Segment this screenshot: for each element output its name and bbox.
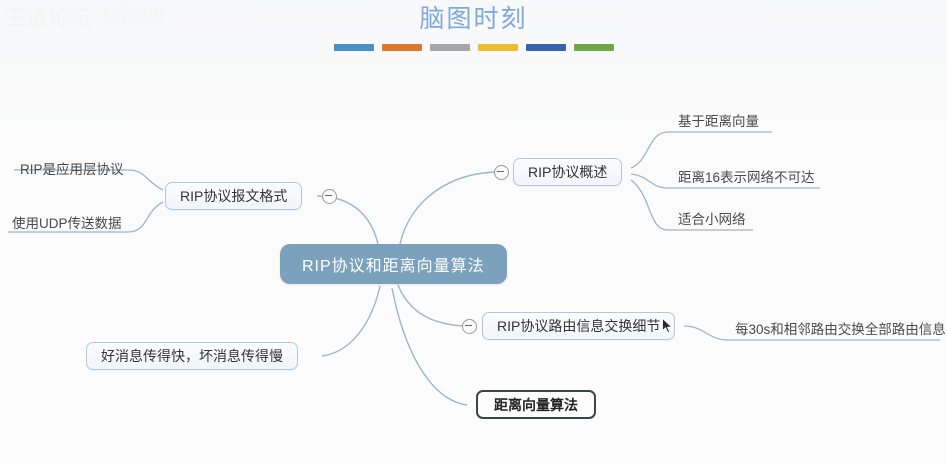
leaf-node-distance-16-unreachable-label: 距离16表示网络不可达 xyxy=(678,166,815,186)
color-bar-row xyxy=(0,44,947,51)
branch-node-rip-message-format-label: RIP协议报文格式 xyxy=(180,186,287,206)
leaf-node-distance-vector-based[interactable]: 基于距离向量 xyxy=(674,110,763,130)
branch-node-rip-overview[interactable]: RIP协议概述 xyxy=(513,158,622,186)
branch-node-rip-overview-label: RIP协议概述 xyxy=(528,162,607,182)
mindmap-canvas: 王道论坛 bilibili 脑图时刻 xyxy=(0,0,947,464)
color-bar-blue xyxy=(334,44,374,51)
color-bar-yellow xyxy=(478,44,518,51)
branch-node-rip-exchange-detail-label: RIP协议路由信息交换细节 xyxy=(497,316,660,336)
leaf-node-small-network[interactable]: 适合小网络 xyxy=(674,208,750,228)
title-block: 脑图时刻 xyxy=(0,4,947,51)
root-node[interactable]: RIP协议和距离向量算法 xyxy=(280,244,507,284)
connector-lines xyxy=(0,0,947,464)
mouse-cursor-icon xyxy=(662,318,674,334)
page-title: 脑图时刻 xyxy=(0,4,947,34)
leaf-node-rip-application-layer[interactable]: RIP是应用层协议 xyxy=(16,158,128,178)
collapse-toggle-rip-overview[interactable] xyxy=(494,165,509,180)
color-bar-dark-blue xyxy=(526,44,566,51)
leaf-node-30s-exchange[interactable]: 每30s和相邻路由交换全部路由信息 xyxy=(731,318,947,338)
branch-node-rip-message-format[interactable]: RIP协议报文格式 xyxy=(165,182,302,210)
leaf-node-distance-vector-based-label: 基于距离向量 xyxy=(678,110,759,130)
color-bar-gray xyxy=(430,44,470,51)
color-bar-orange xyxy=(382,44,422,51)
collapse-toggle-rip-exchange-detail[interactable] xyxy=(462,319,477,334)
leaf-node-udp-transport-label: 使用UDP传送数据 xyxy=(12,212,122,232)
leaf-node-30s-exchange-label: 每30s和相邻路由交换全部路由信息 xyxy=(735,318,946,338)
color-bar-green xyxy=(574,44,614,51)
branch-node-rip-exchange-detail[interactable]: RIP协议路由信息交换细节 xyxy=(482,312,675,340)
branch-node-good-bad-news-label: 好消息传得快，坏消息传得慢 xyxy=(101,346,283,366)
leaf-node-small-network-label: 适合小网络 xyxy=(678,208,746,228)
branch-node-distance-vector-algorithm[interactable]: 距离向量算法 xyxy=(476,390,596,419)
collapse-toggle-rip-message-format[interactable] xyxy=(322,189,337,204)
branch-node-good-bad-news[interactable]: 好消息传得快，坏消息传得慢 xyxy=(86,342,298,370)
leaf-node-udp-transport[interactable]: 使用UDP传送数据 xyxy=(8,212,126,232)
leaf-node-distance-16-unreachable[interactable]: 距离16表示网络不可达 xyxy=(674,166,819,186)
root-node-label: RIP协议和距离向量算法 xyxy=(302,252,485,276)
branch-node-distance-vector-algorithm-label: 距离向量算法 xyxy=(494,395,578,415)
leaf-node-rip-application-layer-label: RIP是应用层协议 xyxy=(20,158,124,178)
